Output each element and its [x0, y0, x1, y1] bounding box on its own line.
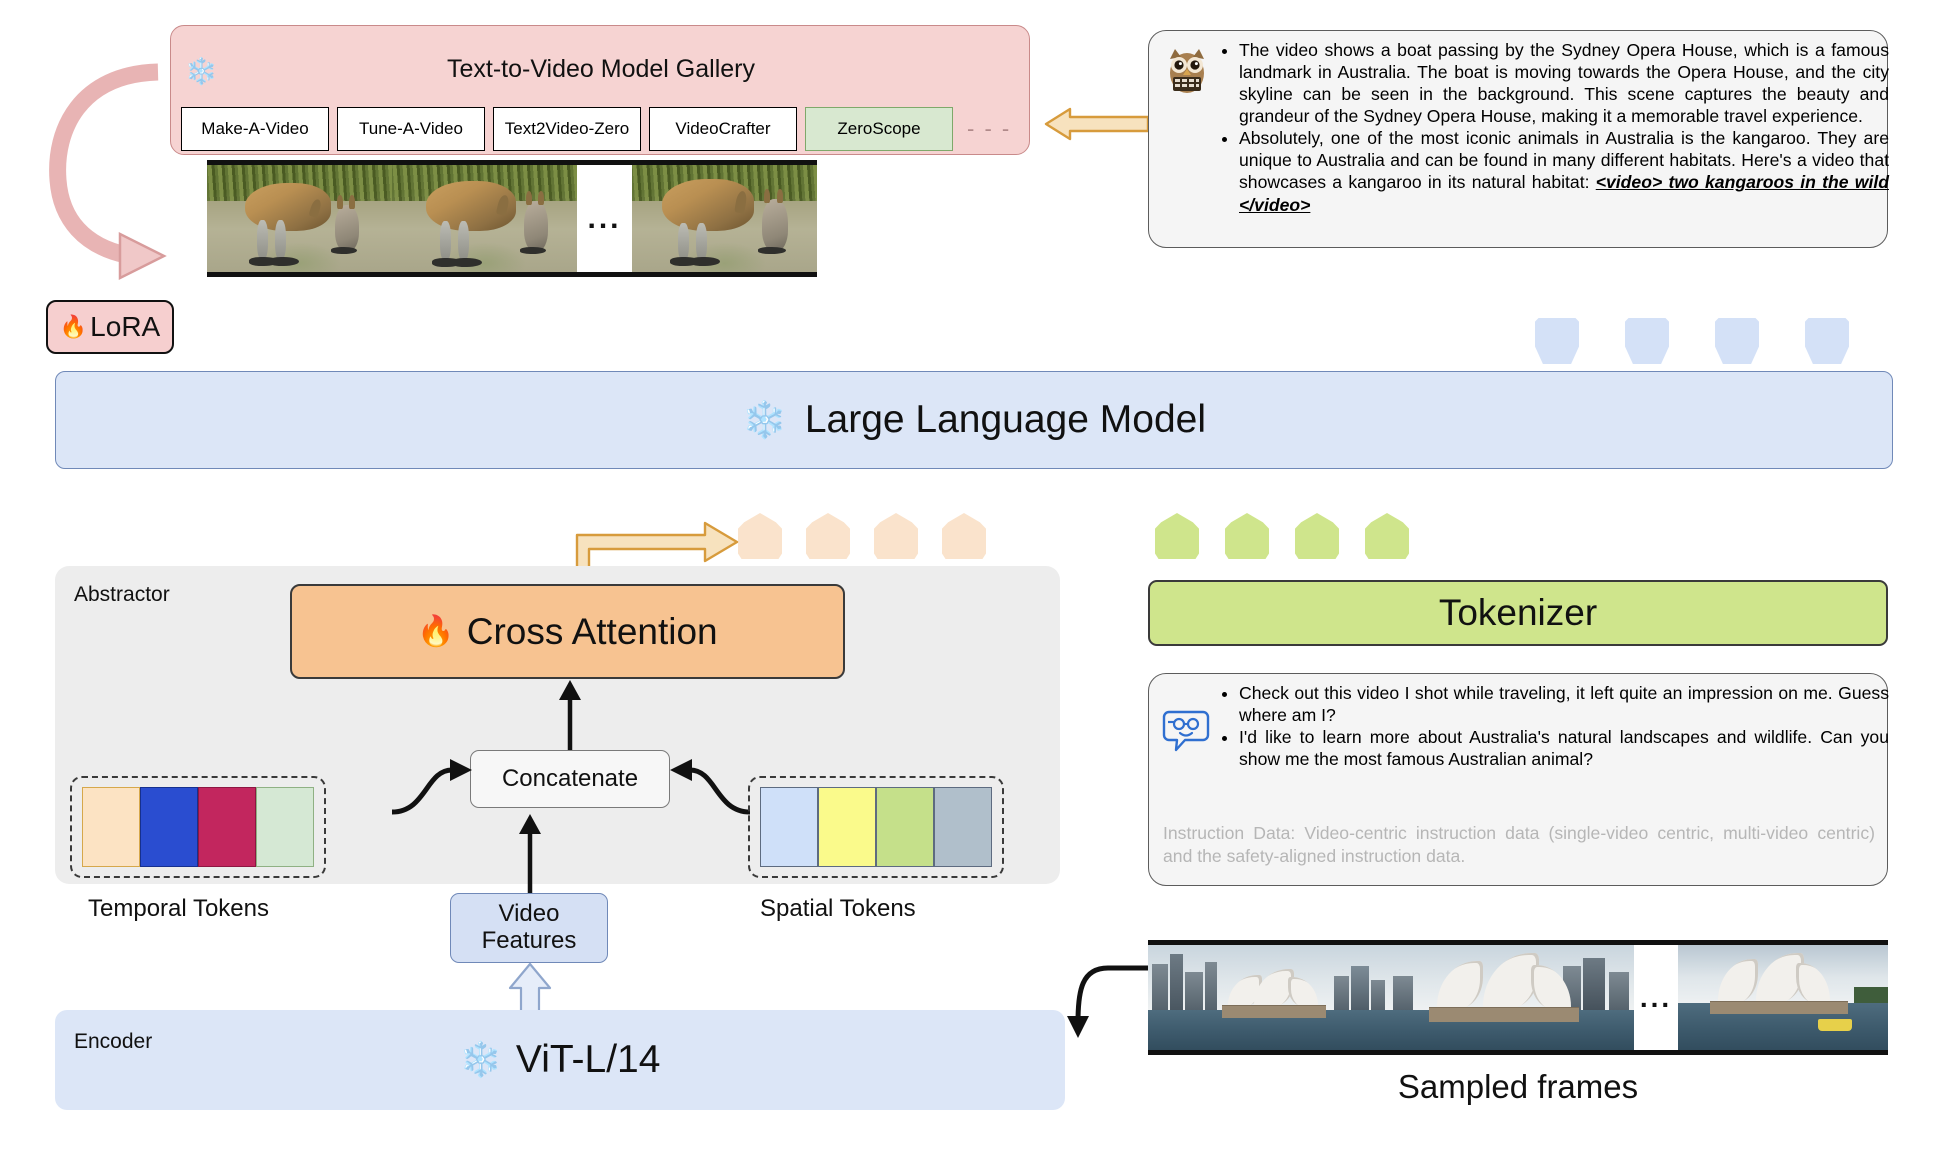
user-bullet-list: Check out this video I shot while travel…	[1215, 682, 1889, 770]
ellipsis-dots: ...	[587, 213, 621, 225]
user-face-icon	[1163, 708, 1209, 754]
tokenizer-label: Tokenizer	[1439, 592, 1597, 634]
lora-label: LoRA	[90, 311, 160, 343]
lora-badge: 🔥 LoRA	[46, 300, 174, 354]
video-features-line1: Video	[499, 901, 560, 928]
sampled-frame	[1678, 945, 1888, 1050]
visual-token	[874, 513, 918, 559]
user-bullet: Check out this video I shot while travel…	[1239, 682, 1889, 726]
spatial-token	[876, 787, 934, 867]
model-chip-zeroscope[interactable]: ZeroScope	[805, 107, 953, 151]
concat-to-cross-attention-arrow	[552, 678, 588, 754]
llm-output-token	[1535, 318, 1579, 364]
model-chip-tune-a-video[interactable]: Tune-A-Video	[337, 107, 485, 151]
model-list-ellipsis: - - -	[961, 116, 1011, 142]
video-features-line2: Features	[482, 928, 577, 955]
large-language-model-block: ❄️ Large Language Model	[55, 371, 1893, 469]
video-frame	[392, 165, 577, 272]
llm-output-token	[1715, 318, 1759, 364]
assistant-bullet: Absolutely, one of the most iconic anima…	[1239, 127, 1889, 215]
encoder-label: Encoder	[74, 1030, 152, 1054]
fire-icon: 🔥	[417, 614, 454, 649]
tokenizer-block: Tokenizer	[1148, 580, 1888, 646]
text-token	[1155, 513, 1199, 559]
gallery-title: Text-to-Video Model Gallery	[171, 55, 1031, 84]
spatial-token	[818, 787, 876, 867]
spatial-tokens-group	[748, 776, 1004, 878]
fire-icon: 🔥	[60, 314, 87, 340]
temporal-token	[256, 787, 314, 867]
temporal-token	[82, 787, 140, 867]
visual-token	[942, 513, 986, 559]
vit-model-label: ViT-L/14	[516, 1038, 661, 1082]
sampled-frames-caption: Sampled frames	[1148, 1068, 1888, 1106]
sampled-frame-ellipsis: ...	[1634, 945, 1678, 1050]
temporal-token	[140, 787, 198, 867]
owl-icon	[1161, 43, 1213, 95]
concatenate-block: Concatenate	[470, 750, 670, 808]
text-token	[1295, 513, 1339, 559]
snowflake-icon: ❄️	[460, 1040, 502, 1080]
llm-output-token	[1625, 318, 1669, 364]
text-token-row	[1155, 513, 1409, 559]
video-features-to-concat-arrow	[512, 812, 548, 898]
spatial-token	[760, 787, 818, 867]
spatial-to-concat-arrow	[664, 752, 750, 822]
assistant-response-bubble: The video shows a boat passing by the Sy…	[1148, 30, 1888, 248]
sampled-frame	[1148, 945, 1391, 1050]
sampled-frames-filmstrip: ...	[1148, 940, 1888, 1055]
model-chip-list: Make-A-Video Tune-A-Video Text2Video-Zer…	[181, 107, 1021, 151]
cross-attention-block: 🔥 Cross Attention	[290, 584, 845, 679]
video-frame	[632, 165, 817, 272]
cross-attention-label: Cross Attention	[467, 611, 718, 653]
visual-token	[806, 513, 850, 559]
model-chip-videocrafter[interactable]: VideoCrafter	[649, 107, 797, 151]
llm-label: Large Language Model	[805, 398, 1206, 442]
generated-video-filmstrip: ...	[207, 160, 817, 277]
assistant-bullet-list: The video shows a boat passing by the Sy…	[1215, 39, 1889, 216]
concatenate-label: Concatenate	[502, 765, 638, 793]
spatial-tokens-caption: Spatial Tokens	[760, 895, 916, 923]
sampled-frames-to-encoder-arrow	[1052, 960, 1156, 1040]
text-token	[1225, 513, 1269, 559]
model-chip-text2video-zero[interactable]: Text2Video-Zero	[493, 107, 641, 151]
temporal-to-concat-arrow	[392, 752, 478, 822]
user-bullet: I'd like to learn more about Australia's…	[1239, 726, 1889, 770]
bubble-to-gallery-arrow	[1040, 105, 1150, 145]
video-frame-ellipsis: ...	[577, 165, 632, 272]
sampled-frame	[1391, 945, 1634, 1050]
temporal-tokens-caption: Temporal Tokens	[88, 895, 269, 923]
assistant-bullet-text: The video shows a boat passing by the Sy…	[1239, 40, 1889, 126]
llm-output-token	[1805, 318, 1849, 364]
ellipsis-dots: ...	[1640, 992, 1672, 1003]
temporal-tokens-group	[70, 776, 326, 878]
text-to-video-model-gallery: ❄️ Text-to-Video Model Gallery Make-A-Vi…	[170, 25, 1030, 155]
llm-output-token-row	[1535, 318, 1849, 364]
abstractor-label: Abstractor	[74, 583, 170, 607]
instruction-data-note: Instruction Data: Video-centric instruct…	[1163, 822, 1875, 867]
spatial-token	[934, 787, 992, 867]
encoder-to-video-features-arrow	[506, 962, 554, 1014]
encoder-block: ❄️ ViT-L/14	[55, 1010, 1065, 1110]
text-token	[1365, 513, 1409, 559]
snowflake-icon: ❄️	[742, 399, 787, 441]
assistant-bullet: The video shows a boat passing by the Sy…	[1239, 39, 1889, 127]
temporal-token	[198, 787, 256, 867]
model-chip-make-a-video[interactable]: Make-A-Video	[181, 107, 329, 151]
user-instruction-bubble: Check out this video I shot while travel…	[1148, 673, 1888, 886]
visual-token-row	[738, 513, 986, 559]
video-frame	[207, 165, 392, 272]
video-features-block: Video Features	[450, 893, 608, 963]
